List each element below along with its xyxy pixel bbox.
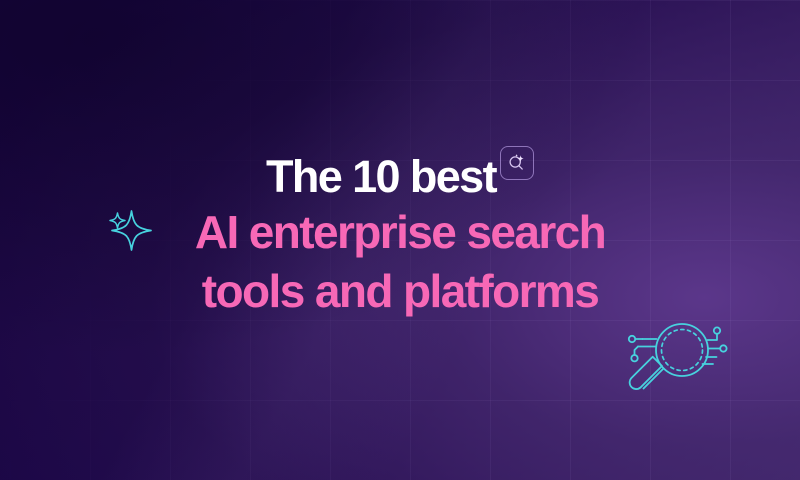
ai-magnifier-circuit-illustration bbox=[618, 312, 730, 413]
lens-dashed-circle bbox=[662, 330, 703, 371]
hero-banner: The 10 best AI enterprise search tools a… bbox=[0, 0, 800, 480]
headline-line-3: tools and platforms bbox=[0, 268, 800, 320]
ai-search-sparkle-icon bbox=[500, 146, 534, 180]
headline-line-1: The 10 best bbox=[0, 150, 800, 202]
headline-line-1-text: The 10 best bbox=[266, 154, 496, 199]
headline-line-2: AI enterprise search bbox=[0, 209, 800, 261]
headline-block: The 10 best AI enterprise search tools a… bbox=[0, 150, 800, 320]
